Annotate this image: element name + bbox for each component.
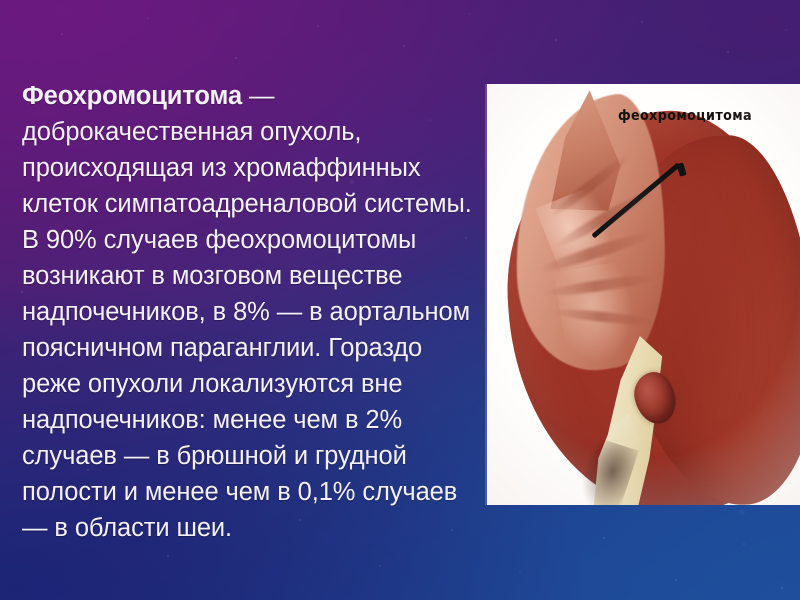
photo-caption-label: феохромоцитома [618, 108, 752, 124]
slide-body-text: Феохромоцитома — доброкачественная опухо… [22, 78, 474, 546]
presentation-slide: Феохромоцитома — доброкачественная опухо… [0, 0, 800, 600]
text-line-12: полости и менее чем в 0,1% случаев [22, 474, 474, 510]
lead-term: Феохромоцитома [22, 82, 242, 110]
text-line-7: надпочечников, в 8% — в аортальном [22, 294, 474, 330]
text-line-6: возникают в мозговом веществе [22, 258, 474, 294]
text-line-1-rest: — [242, 82, 274, 110]
text-line-2: доброкачественная опухоль, [22, 114, 474, 150]
text-line-3: происходящая из хромаффинных [22, 150, 474, 186]
text-line-9: реже опухоли локализуются вне [22, 366, 474, 402]
text-line-11: случаев — в брюшной и грудной [22, 438, 474, 474]
specimen-photo-frame: феохромоцитома [487, 84, 800, 505]
text-line-13: — в области шеи. [22, 510, 474, 546]
adrenal-specimen-photo: феохромоцитома [487, 84, 800, 505]
text-line-8: поясничном параганглии. Гораздо [22, 330, 474, 366]
text-line-4: клеток симпатоадреналовой системы. [22, 186, 474, 222]
text-line-10: надпочечников: менее чем в 2% [22, 402, 474, 438]
text-line-5: В 90% случаев феохромоцитомы [22, 222, 474, 258]
text-line-1: Феохромоцитома — [22, 78, 474, 114]
